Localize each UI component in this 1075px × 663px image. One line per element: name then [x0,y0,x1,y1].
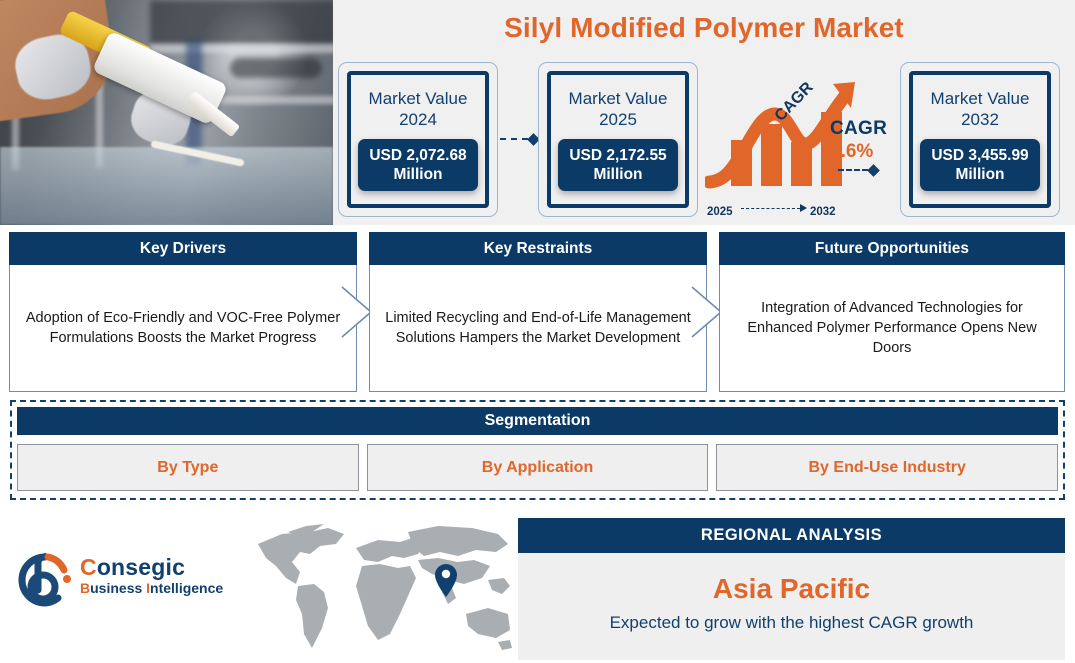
cagr-end-year: 2032 [810,206,836,218]
logo-tagline-ntelligence: ntelligence [150,580,223,596]
mv-label-2024-line1: Market Value [369,88,468,109]
connector-cagr-to-2032 [838,165,878,175]
mv-value-2024-amount: USD 2,072.68 [369,146,466,165]
mv-label-2032-year: 2032 [931,109,1030,130]
key-drivers-heading: Key Drivers [9,232,357,265]
key-restraints-box: Key Restraints Limited Recycling and End… [369,232,707,392]
key-drivers-box: Key Drivers Adoption of Eco-Friendly and… [9,232,357,392]
connector-2024-to-2025 [500,134,538,144]
logo-tagline-usiness: usiness [90,580,146,596]
cagr-year-arrow-icon [741,204,807,212]
logo-brand-initial: C [80,554,97,580]
mv-value-2032-amount: USD 3,455.99 [931,146,1028,165]
segmentation-heading: Segmentation [17,407,1058,435]
logo-brand-name: Consegic [80,554,223,581]
page-title: Silyl Modified Polymer Market [333,12,1075,44]
mv-value-2032: USD 3,455.99 Million [920,139,1039,191]
hero-photo [0,0,333,225]
mv-value-2032-unit: Million [931,165,1028,184]
consegic-logo-text: Consegic Business Intelligence [80,554,223,596]
segment-by-end-use-industry[interactable]: By End-Use Industry [716,444,1058,491]
cagr-arrow-label: CAGR [772,79,817,125]
cagr-title: CAGR [830,118,887,140]
mv-value-2025-amount: USD 2,172.55 [569,146,666,165]
segment-by-application[interactable]: By Application [367,444,709,491]
consegic-logo-mark-icon [12,548,76,612]
segmentation-panel: Segmentation By Type By Application By E… [10,400,1065,500]
cagr-value: 6.6% [830,141,887,163]
segment-by-type[interactable]: By Type [17,444,359,491]
key-drivers-text: Adoption of Eco-Friendly and VOC-Free Po… [24,308,342,348]
mv-label-2032-line1: Market Value [931,88,1030,109]
regional-analysis-note: Expected to grow with the highest CAGR g… [518,613,1065,633]
future-opportunities-heading: Future Opportunities [719,232,1065,265]
market-value-card-2024: Market Value 2024 USD 2,072.68 Million [338,62,498,217]
world-map [252,522,520,658]
mv-value-2025: USD 2,172.55 Million [558,139,677,191]
mv-value-2025-unit: Million [569,165,666,184]
logo-brand-rest: onsegic [97,554,185,580]
infographic-page: Silyl Modified Polymer Market Market Val… [0,0,1075,660]
regional-analysis-heading: REGIONAL ANALYSIS [518,518,1065,553]
key-restraints-heading: Key Restraints [369,232,707,265]
map-location-pin-icon [435,564,457,597]
future-opportunities-box: Future Opportunities Integration of Adva… [719,232,1065,392]
mv-label-2024-year: 2024 [369,109,468,130]
logo-tagline-b: B [80,580,90,596]
regional-analysis-region: Asia Pacific [518,573,1065,605]
cagr-start-year: 2025 [707,206,733,218]
mv-label-2025-year: 2025 [569,109,668,130]
world-map-icon [252,522,520,658]
key-restraints-text: Limited Recycling and End-of-Life Manage… [384,308,692,348]
mv-value-2024: USD 2,072.68 Million [358,139,477,191]
logo-tagline: Business Intelligence [80,580,223,596]
mv-label-2025-line1: Market Value [569,88,668,109]
cagr-graphic: CAGR 2025 2032 CAGR 6.6% [705,78,905,216]
consegic-logo[interactable]: Consegic Business Intelligence [12,548,242,618]
future-opportunities-text: Integration of Advanced Technologies for… [734,298,1050,358]
market-value-card-2032: Market Value 2032 USD 3,455.99 Million [900,62,1060,217]
regional-analysis-panel: REGIONAL ANALYSIS Asia Pacific Expected … [518,518,1065,660]
market-value-card-2025: Market Value 2025 USD 2,172.55 Million [538,62,698,217]
cagr-readout: CAGR 6.6% [830,118,887,163]
mv-value-2024-unit: Million [369,165,466,184]
